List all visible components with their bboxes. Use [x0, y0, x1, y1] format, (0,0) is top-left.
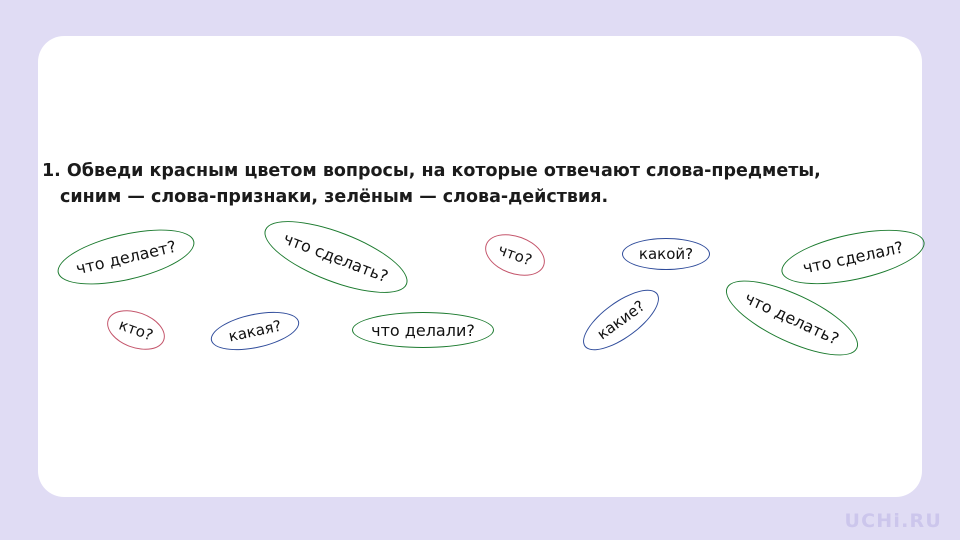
question-bubble-label: что сделать? — [281, 228, 391, 285]
question-bubble-label: кто? — [117, 316, 156, 345]
question-bubble-label: что делать? — [742, 288, 842, 348]
watermark-logo: UCHi.RU — [845, 510, 942, 532]
question-bubble[interactable]: какая? — [207, 305, 302, 357]
content-card: 1. Обведи красным цветом вопросы, на кот… — [38, 36, 922, 497]
question-bubble-group: что делает?что сделать?что?какой?что сде… — [38, 36, 922, 497]
question-bubble-label: что? — [496, 241, 535, 270]
question-bubble[interactable]: что сделал? — [777, 219, 929, 294]
question-bubble[interactable]: какие? — [574, 279, 668, 361]
slide-root: 1. Обведи красным цветом вопросы, на кот… — [0, 0, 960, 540]
question-bubble[interactable]: что делает? — [53, 219, 200, 295]
question-bubble[interactable]: что сделать? — [256, 206, 416, 307]
question-bubble[interactable]: что делали? — [352, 312, 494, 348]
question-bubble-label: какой? — [639, 245, 693, 263]
question-bubble[interactable]: кто? — [102, 303, 171, 357]
question-bubble-label: что делали? — [371, 321, 475, 340]
question-bubble[interactable]: какой? — [622, 238, 710, 270]
question-bubble-label: что делает? — [74, 236, 178, 278]
question-bubble-label: что сделал? — [801, 237, 905, 277]
question-bubble[interactable]: что? — [479, 227, 550, 284]
question-bubble-label: какая? — [227, 317, 283, 346]
question-bubble-label: какие? — [594, 297, 648, 343]
